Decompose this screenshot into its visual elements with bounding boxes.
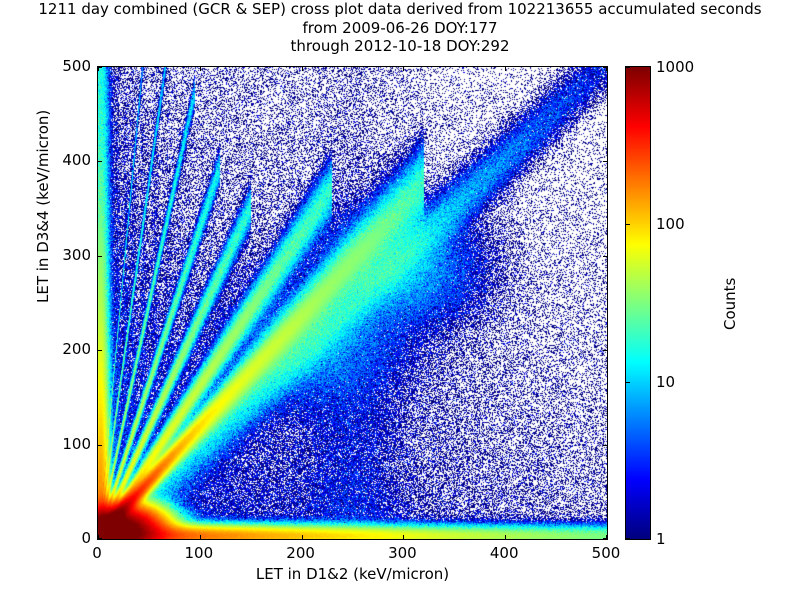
y-tick-label: 0 <box>91 529 101 547</box>
colorbar-label: Counts <box>721 278 739 330</box>
colorbar-tick <box>626 382 630 383</box>
colorbar-tick-label: 10 <box>656 373 675 391</box>
figure-canvas: 1211 day combined (GCR & SEP) cross plot… <box>0 0 800 600</box>
y-tick-label: 200 <box>91 340 120 358</box>
y-tick-label: 500 <box>91 57 120 75</box>
x-tick-top <box>200 67 201 71</box>
colorbar-tick-label: 100 <box>656 215 685 233</box>
title-line-2: from 2009-06-26 DOY:177 <box>0 19 800 38</box>
y-tick-right <box>603 350 607 351</box>
title-line-3: through 2012-10-18 DOY:292 <box>0 37 800 56</box>
density-heatmap <box>98 67 607 539</box>
colorbar <box>625 66 651 540</box>
y-tick-right <box>603 538 607 539</box>
x-tick-label: 500 <box>592 544 621 562</box>
colorbar-tick <box>626 538 630 539</box>
plot-axes <box>97 66 608 540</box>
x-tick <box>200 535 201 539</box>
y-tick-right <box>603 161 607 162</box>
y-axis-label: LET in D3&4 (keV/micron) <box>34 110 52 303</box>
y-tick-label: 100 <box>91 435 120 453</box>
y-tick-right <box>603 67 607 68</box>
y-tick-right <box>603 445 607 446</box>
y-tick-label: 300 <box>91 246 120 264</box>
x-tick-top <box>403 67 404 71</box>
x-axis-label: LET in D1&2 (keV/micron) <box>97 565 608 583</box>
x-tick-label: 200 <box>286 544 315 562</box>
y-tick-label: 400 <box>91 151 120 169</box>
x-tick-label: 400 <box>490 544 519 562</box>
colorbar-gradient <box>626 67 650 539</box>
title-line-1: 1211 day combined (GCR & SEP) cross plot… <box>0 0 800 19</box>
x-tick <box>505 535 506 539</box>
colorbar-tick-label: 1000 <box>656 58 694 76</box>
x-tick-top <box>505 67 506 71</box>
colorbar-tick <box>626 67 630 68</box>
colorbar-tick <box>626 224 630 225</box>
x-tick <box>403 535 404 539</box>
x-tick <box>302 535 303 539</box>
x-tick-top <box>302 67 303 71</box>
colorbar-tick-label: 1 <box>656 530 666 548</box>
x-tick-label: 100 <box>184 544 213 562</box>
y-tick-right <box>603 256 607 257</box>
x-tick-label: 300 <box>388 544 417 562</box>
plot-title: 1211 day combined (GCR & SEP) cross plot… <box>0 0 800 56</box>
